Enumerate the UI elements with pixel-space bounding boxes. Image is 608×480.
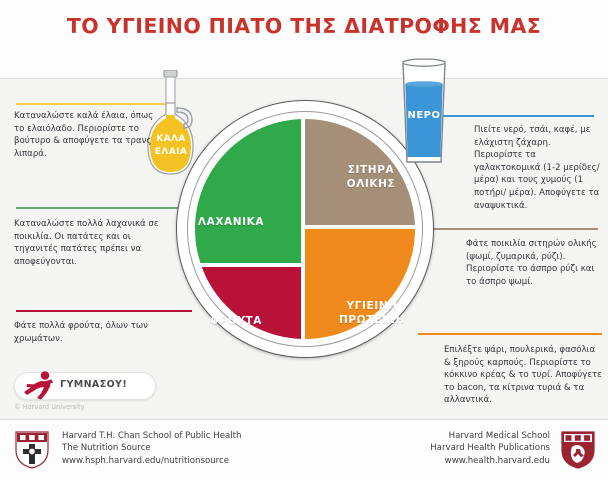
connector-line-protein bbox=[418, 333, 602, 335]
connector-line-grains bbox=[420, 228, 598, 230]
callout-vegetables: Καταναλώστε πολλά λαχανικά σε ποικιλία. … bbox=[14, 218, 164, 268]
callout-fruits: Φάτε πολλά φρούτα, όλων των χρωμάτων. bbox=[14, 320, 164, 345]
callout-oil: Καταναλώστε καλά έλαια, όπως το ελαιόλαδ… bbox=[14, 110, 154, 160]
connector-line-vegetables bbox=[16, 207, 194, 209]
plate-label-vegetables: ΛΑΧΑΝΙΚΑ bbox=[176, 215, 286, 229]
footer-hms-url[interactable]: www.health.harvard.edu bbox=[430, 455, 550, 467]
footer-hms-text: Harvard Medical School Harvard Health Pu… bbox=[430, 430, 550, 467]
footer-hsph-line1: Harvard T.H. Chan School of Public Healt… bbox=[62, 430, 241, 442]
plate-label-fruits: ΦΡΟΥΤΑ bbox=[186, 314, 286, 328]
connector-line-water bbox=[438, 115, 594, 117]
plate-label-protein-line1: ΥΓΙΕΙΝΗ bbox=[314, 299, 430, 313]
footer-hms-line1: Harvard Medical School bbox=[430, 430, 550, 442]
harvard-shield-icon bbox=[14, 430, 50, 474]
exercise-label: ΓΥΜΝΑΣΟΥ! bbox=[60, 379, 156, 390]
footer-hsph-line2: The Nutrition Source bbox=[62, 442, 241, 454]
callout-water: Πιείτε νερό, τσάι, καφέ, με ελάχιστη ζάχ… bbox=[474, 124, 600, 212]
plate-section-fruits[interactable] bbox=[195, 267, 301, 339]
callout-protein: Επιλέξτε ψάρι, πουλερικά, φασόλια & ξηρο… bbox=[444, 344, 604, 407]
water-glass-label: ΝΕΡΟ bbox=[396, 110, 452, 121]
footer-hms-line2: Harvard Health Publications bbox=[430, 442, 550, 454]
plate-section-vegetables[interactable] bbox=[195, 119, 301, 263]
infographic-root: ΤΟ ΥΓΙΕΙΝΟ ΠΙΑΤΟ ΤΗΣ ΔΙΑΤΡΟΦΗΣ ΜΑΣ ΛΑΧΑΝ… bbox=[0, 0, 608, 480]
plate-label-protein: ΥΓΙΕΙΝΗ ΠΡΩΤΕΙΝΗ bbox=[314, 299, 430, 327]
page-title: ΤΟ ΥΓΙΕΙΝΟ ΠΙΑΤΟ ΤΗΣ ΔΙΑΤΡΟΦΗΣ ΜΑΣ bbox=[0, 14, 608, 38]
running-figure-icon bbox=[20, 370, 58, 404]
copyright-text: © Harvard University bbox=[14, 403, 84, 411]
plate-label-grains-line2: ΟΛΙΚΗΣ bbox=[316, 177, 426, 191]
footer-hsph-text: Harvard T.H. Chan School of Public Healt… bbox=[62, 430, 241, 467]
plate-label-protein-line2: ΠΡΩΤΕΙΝΗ bbox=[314, 313, 430, 327]
callout-grains: Φάτε ποικιλία σιτηρών ολικής (ψωμί, ζυμα… bbox=[466, 238, 606, 288]
connector-line-fruits bbox=[16, 310, 192, 312]
footer-hsph-url[interactable]: www.hsph.harvard.edu/nutritionsource bbox=[62, 455, 241, 467]
harvard-medical-shield-icon bbox=[560, 430, 596, 474]
